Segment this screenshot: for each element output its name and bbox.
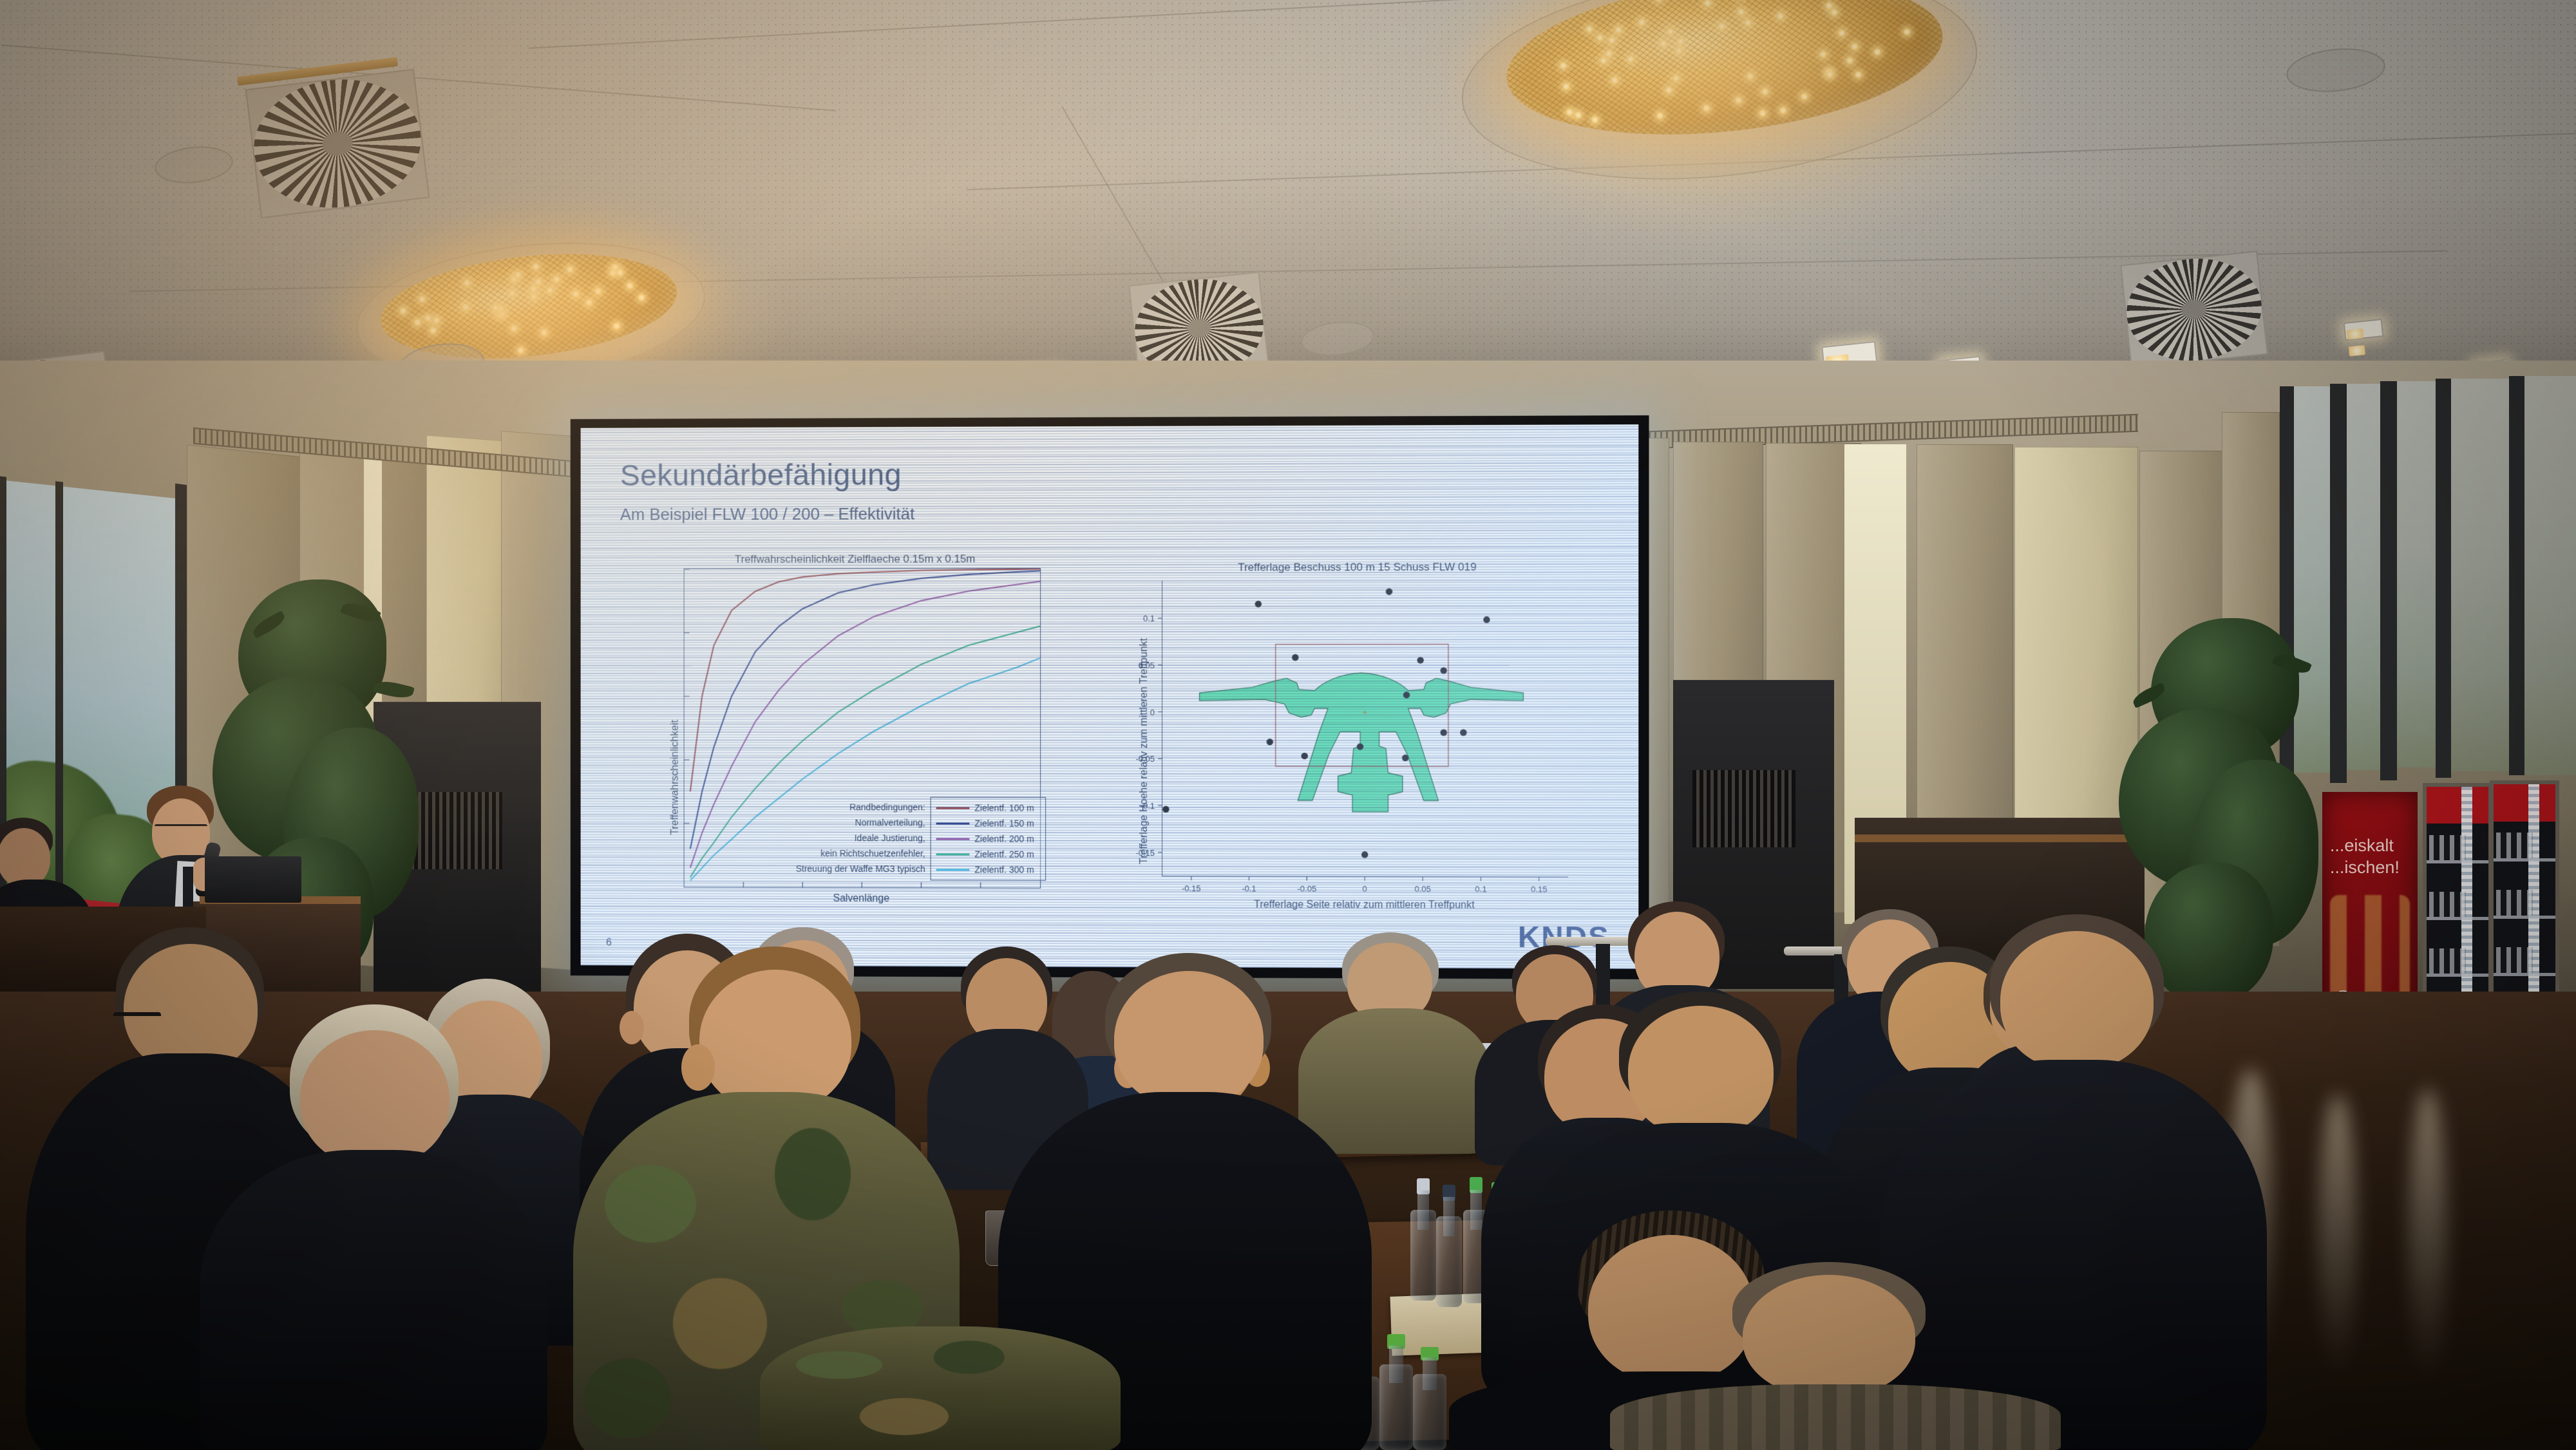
condition-line-1: Normalverteilung,: [740, 817, 925, 827]
x-tick-label-4: 0.05: [1415, 884, 1431, 894]
legend-label-4: Zielentf. 300 m: [974, 865, 1034, 875]
impact-point-14: [1361, 851, 1368, 858]
impact-point-6: [1403, 692, 1410, 698]
presentation-screen-frame: Sekundärbefähigung Am Beispiel FLW 100 /…: [571, 415, 1649, 979]
chandelier-bulb: [1566, 108, 1573, 116]
floor-light-reflection: [2318, 1095, 2357, 1378]
legend-left: Zielentf. 100 mZielentf. 150 mZielentf. …: [931, 797, 1046, 881]
y-axis-label-right: Trefferlage Hoehe relativ zum mittleren …: [1139, 638, 1150, 864]
drone-silhouette: [1200, 673, 1524, 812]
legend-entry-3: Zielentf. 250 m: [936, 849, 1034, 859]
x-tick-label-5: 0.1: [1475, 884, 1486, 894]
water-bottle: [1436, 1185, 1462, 1307]
chart-impact-pattern: Trefferlage Beschuss 100 m 15 Schuss FLW…: [1092, 561, 1584, 923]
impact-point-13: [1162, 806, 1169, 813]
chandelier-bulb: [1627, 55, 1634, 63]
chart-title-left: Treffwahrscheinlichkeit Zielflaeche 0.15…: [644, 552, 1066, 566]
impact-point-2: [1483, 616, 1490, 623]
impact-point-4: [1417, 657, 1423, 663]
x-tick-label-2: -0.05: [1297, 884, 1316, 894]
impact-point-10: [1357, 743, 1363, 749]
cabinet-trim: [1855, 834, 2145, 842]
condition-line-3: kein Richtschuetzenfehler,: [740, 848, 925, 859]
legend-entry-1: Zielentf. 150 m: [936, 818, 1034, 829]
impact-point-7: [1440, 730, 1446, 736]
conference-room-photo: ...eiskalt ...ischen! Coca-Cola Sekundär…: [0, 0, 2576, 1450]
plot-area-right: +-0.15-0.1-0.0500.050.10.150.10.050-0.05…: [1162, 580, 1568, 878]
door-frame: [2380, 381, 2397, 780]
x-axis-label-left: Salvenlänge: [684, 892, 1039, 905]
legend-label-2: Zielentf. 200 m: [974, 834, 1034, 844]
legend-entry-2: Zielentf. 200 m: [936, 834, 1034, 844]
air-diffuser: [245, 69, 430, 219]
legend-swatch-3: [936, 853, 970, 855]
cooler-ad-text: ...eiskalt ...ischen!: [2330, 835, 2410, 879]
impact-point-9: [1267, 739, 1273, 745]
impact-point-8: [1460, 730, 1466, 736]
impact-point-3: [1292, 654, 1298, 661]
window-right: [2451, 379, 2509, 771]
legend-label-0: Zielentf. 100 m: [974, 803, 1034, 813]
floor-light-reflection: [2409, 1088, 2447, 1384]
laptop: [205, 856, 301, 903]
air-diffuser: [2120, 250, 2268, 368]
mean-point-crosshair: +: [1362, 707, 1367, 717]
chart-hit-probability: Treffwahrscheinlichkeit Zielflaeche 0.15…: [644, 552, 1066, 913]
audience-member-nearest: [760, 1326, 1121, 1450]
y-tick-label-0: 0.1: [1143, 614, 1155, 623]
legend-entry-0: Zielentf. 100 m: [936, 803, 1034, 813]
x-tick-label-6: 0.15: [1531, 884, 1548, 894]
audience-member-nearest: [1610, 1262, 2061, 1450]
condition-line-0: Randbedingungen:: [740, 802, 925, 812]
legend-swatch-0: [936, 807, 970, 809]
legend-label-1: Zielentf. 150 m: [974, 818, 1034, 829]
water-bottle: [1410, 1178, 1436, 1301]
legend-label-3: Zielentf. 250 m: [974, 849, 1034, 860]
door-frame: [2509, 376, 2524, 775]
legend-swatch-4: [936, 869, 970, 871]
wall-panel: [1646, 438, 1669, 914]
legend-swatch-1: [936, 822, 970, 824]
presentation-slide: Sekundärbefähigung Am Beispiel FLW 100 /…: [581, 424, 1639, 969]
window-right: [2524, 376, 2576, 775]
x-tick-label-3: 0: [1363, 884, 1367, 894]
impact-point-1: [1255, 601, 1262, 607]
cooler-ad-line2: ...ischen!: [2330, 858, 2400, 877]
y-axis-label-left: Treffenwahrscheinlichkeit: [670, 720, 681, 835]
audience-member-front: [213, 1004, 535, 1450]
impact-point-12: [1402, 755, 1408, 761]
slide-subtitle: Am Beispiel FLW 100 / 200 – Effektivität: [620, 504, 914, 525]
chandelier-bulb: [1854, 71, 1862, 79]
condition-line-2: Ideale Justierung,: [740, 833, 925, 843]
cooler-ad-line1: ...eiskalt: [2330, 836, 2394, 855]
chandelier-bulb: [429, 326, 437, 334]
impact-point-5: [1440, 667, 1446, 673]
eyeglasses: [155, 824, 207, 834]
x-axis-label-right: Trefferlage Seite relativ zum mittleren …: [1162, 899, 1567, 912]
window-right: [2397, 381, 2436, 767]
slide-title: Sekundärbefähigung: [620, 457, 902, 493]
door-frame: [2436, 379, 2451, 778]
chart-title-right: Trefferlage Beschuss 100 m 15 Schuss FLW…: [1131, 561, 1584, 574]
impact-point-11: [1301, 753, 1307, 759]
legend-entry-4: Zielentf. 300 m: [936, 864, 1034, 874]
legend-swatch-2: [936, 838, 970, 840]
eyeglasses: [113, 1012, 161, 1030]
scatter-group: +-0.15-0.1-0.0500.050.10.150.10.050-0.05…: [1162, 580, 1568, 877]
x-tick-label-0: -0.15: [1182, 883, 1201, 893]
door-frame: [2330, 384, 2347, 783]
x-tick-label-1: -0.1: [1242, 883, 1256, 893]
impact-point-0: [1386, 588, 1392, 595]
water-bottle: [1379, 1334, 1413, 1450]
line-series-0: [690, 569, 1040, 792]
water-bottle: [1413, 1347, 1446, 1450]
y-tick-label-2: 0: [1150, 708, 1155, 717]
condition-line-4: Streuung der Waffe MG3 typisch: [740, 863, 925, 874]
window-right: [2347, 384, 2380, 770]
